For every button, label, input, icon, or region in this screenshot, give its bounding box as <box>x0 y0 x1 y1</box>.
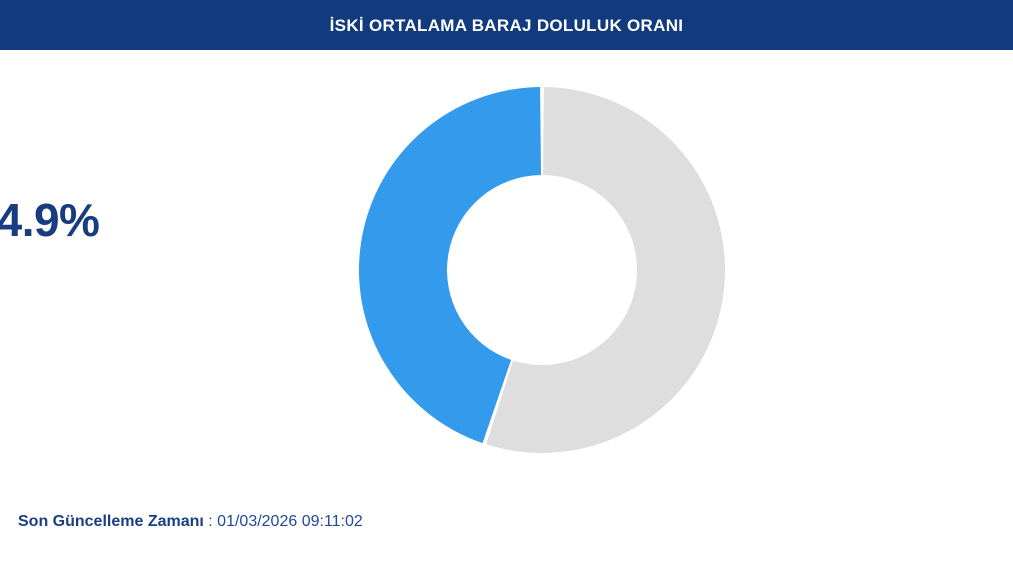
donut-slice-group <box>359 87 725 453</box>
page-title: İSKİ ORTALAMA BARAJ DOLULUK ORANI <box>330 17 684 34</box>
donut-chart-svg <box>0 50 1013 490</box>
last-update-label: Son Güncelleme Zamanı <box>18 513 204 530</box>
dam-occupancy-chart: 44.9% <box>0 50 1013 490</box>
page-header: İSKİ ORTALAMA BARAJ DOLULUK ORANI <box>0 0 1013 50</box>
last-update-line: Son Güncelleme Zamanı : 01/03/2026 09:11… <box>18 510 363 534</box>
last-update-separator: : <box>204 513 217 530</box>
last-update-value: 01/03/2026 09:11:02 <box>217 513 363 530</box>
